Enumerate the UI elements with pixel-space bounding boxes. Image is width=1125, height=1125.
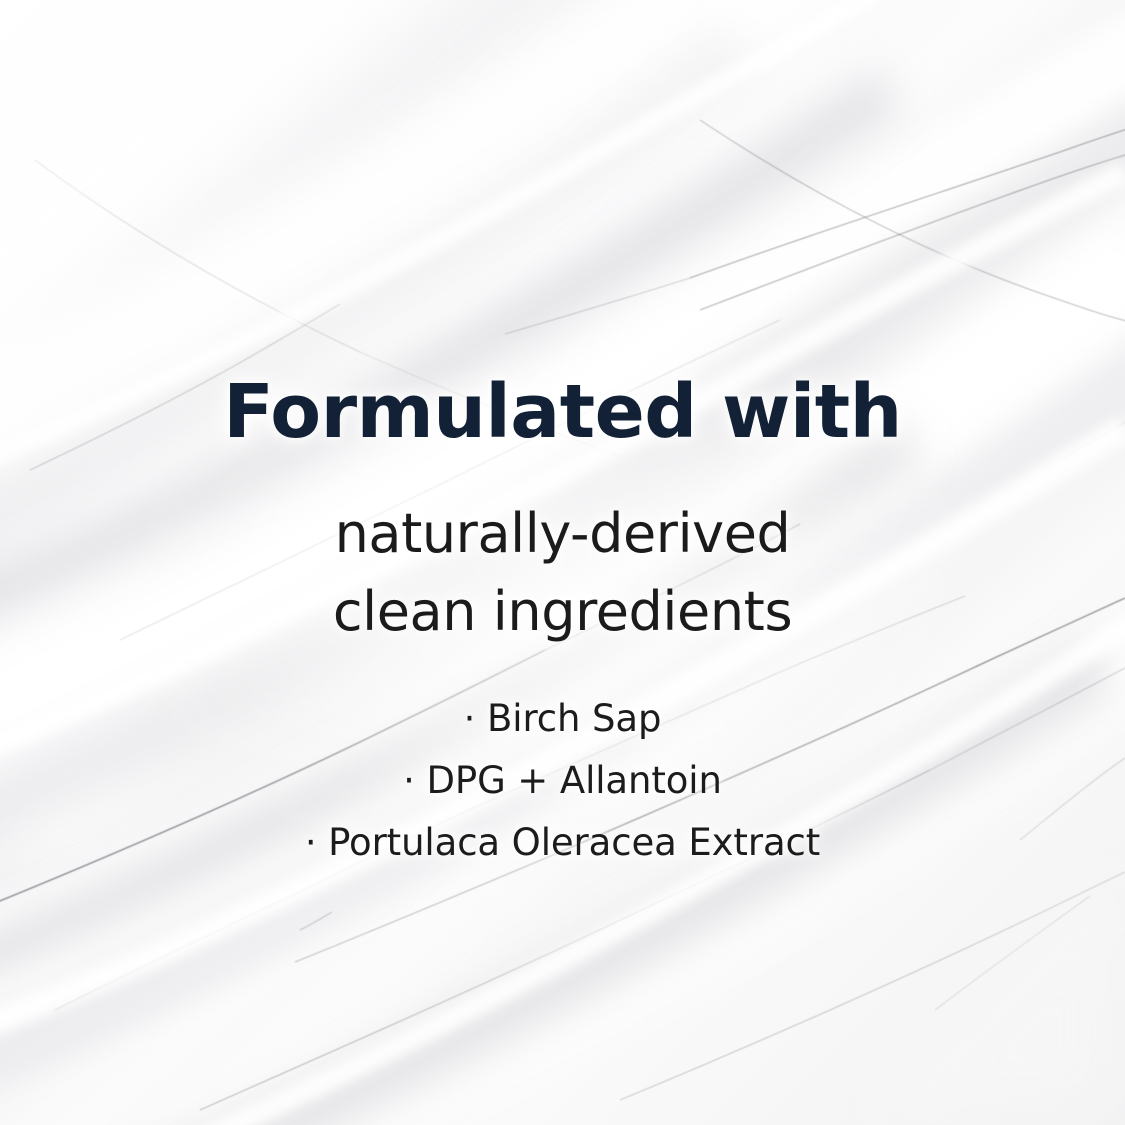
ingredient-item-portulaca-oleracea-extract: · Portulaca Oleracea Extract [0, 812, 1125, 874]
subheading: naturally-derived clean ingredients [0, 495, 1125, 651]
ingredient-item-dpg-allantoin: · DPG + Allantoin [0, 750, 1125, 812]
subheading-line-2: clean ingredients [0, 573, 1125, 651]
ingredient-list: · Birch Sap · DPG + Allantoin · Portulac… [0, 688, 1125, 874]
ingredient-item-birch-sap: · Birch Sap [0, 688, 1125, 750]
subheading-line-1: naturally-derived [0, 495, 1125, 573]
marketing-image-canvas: Formulated with naturally-derived clean … [0, 0, 1125, 1125]
page-title: Formulated with [0, 369, 1125, 455]
